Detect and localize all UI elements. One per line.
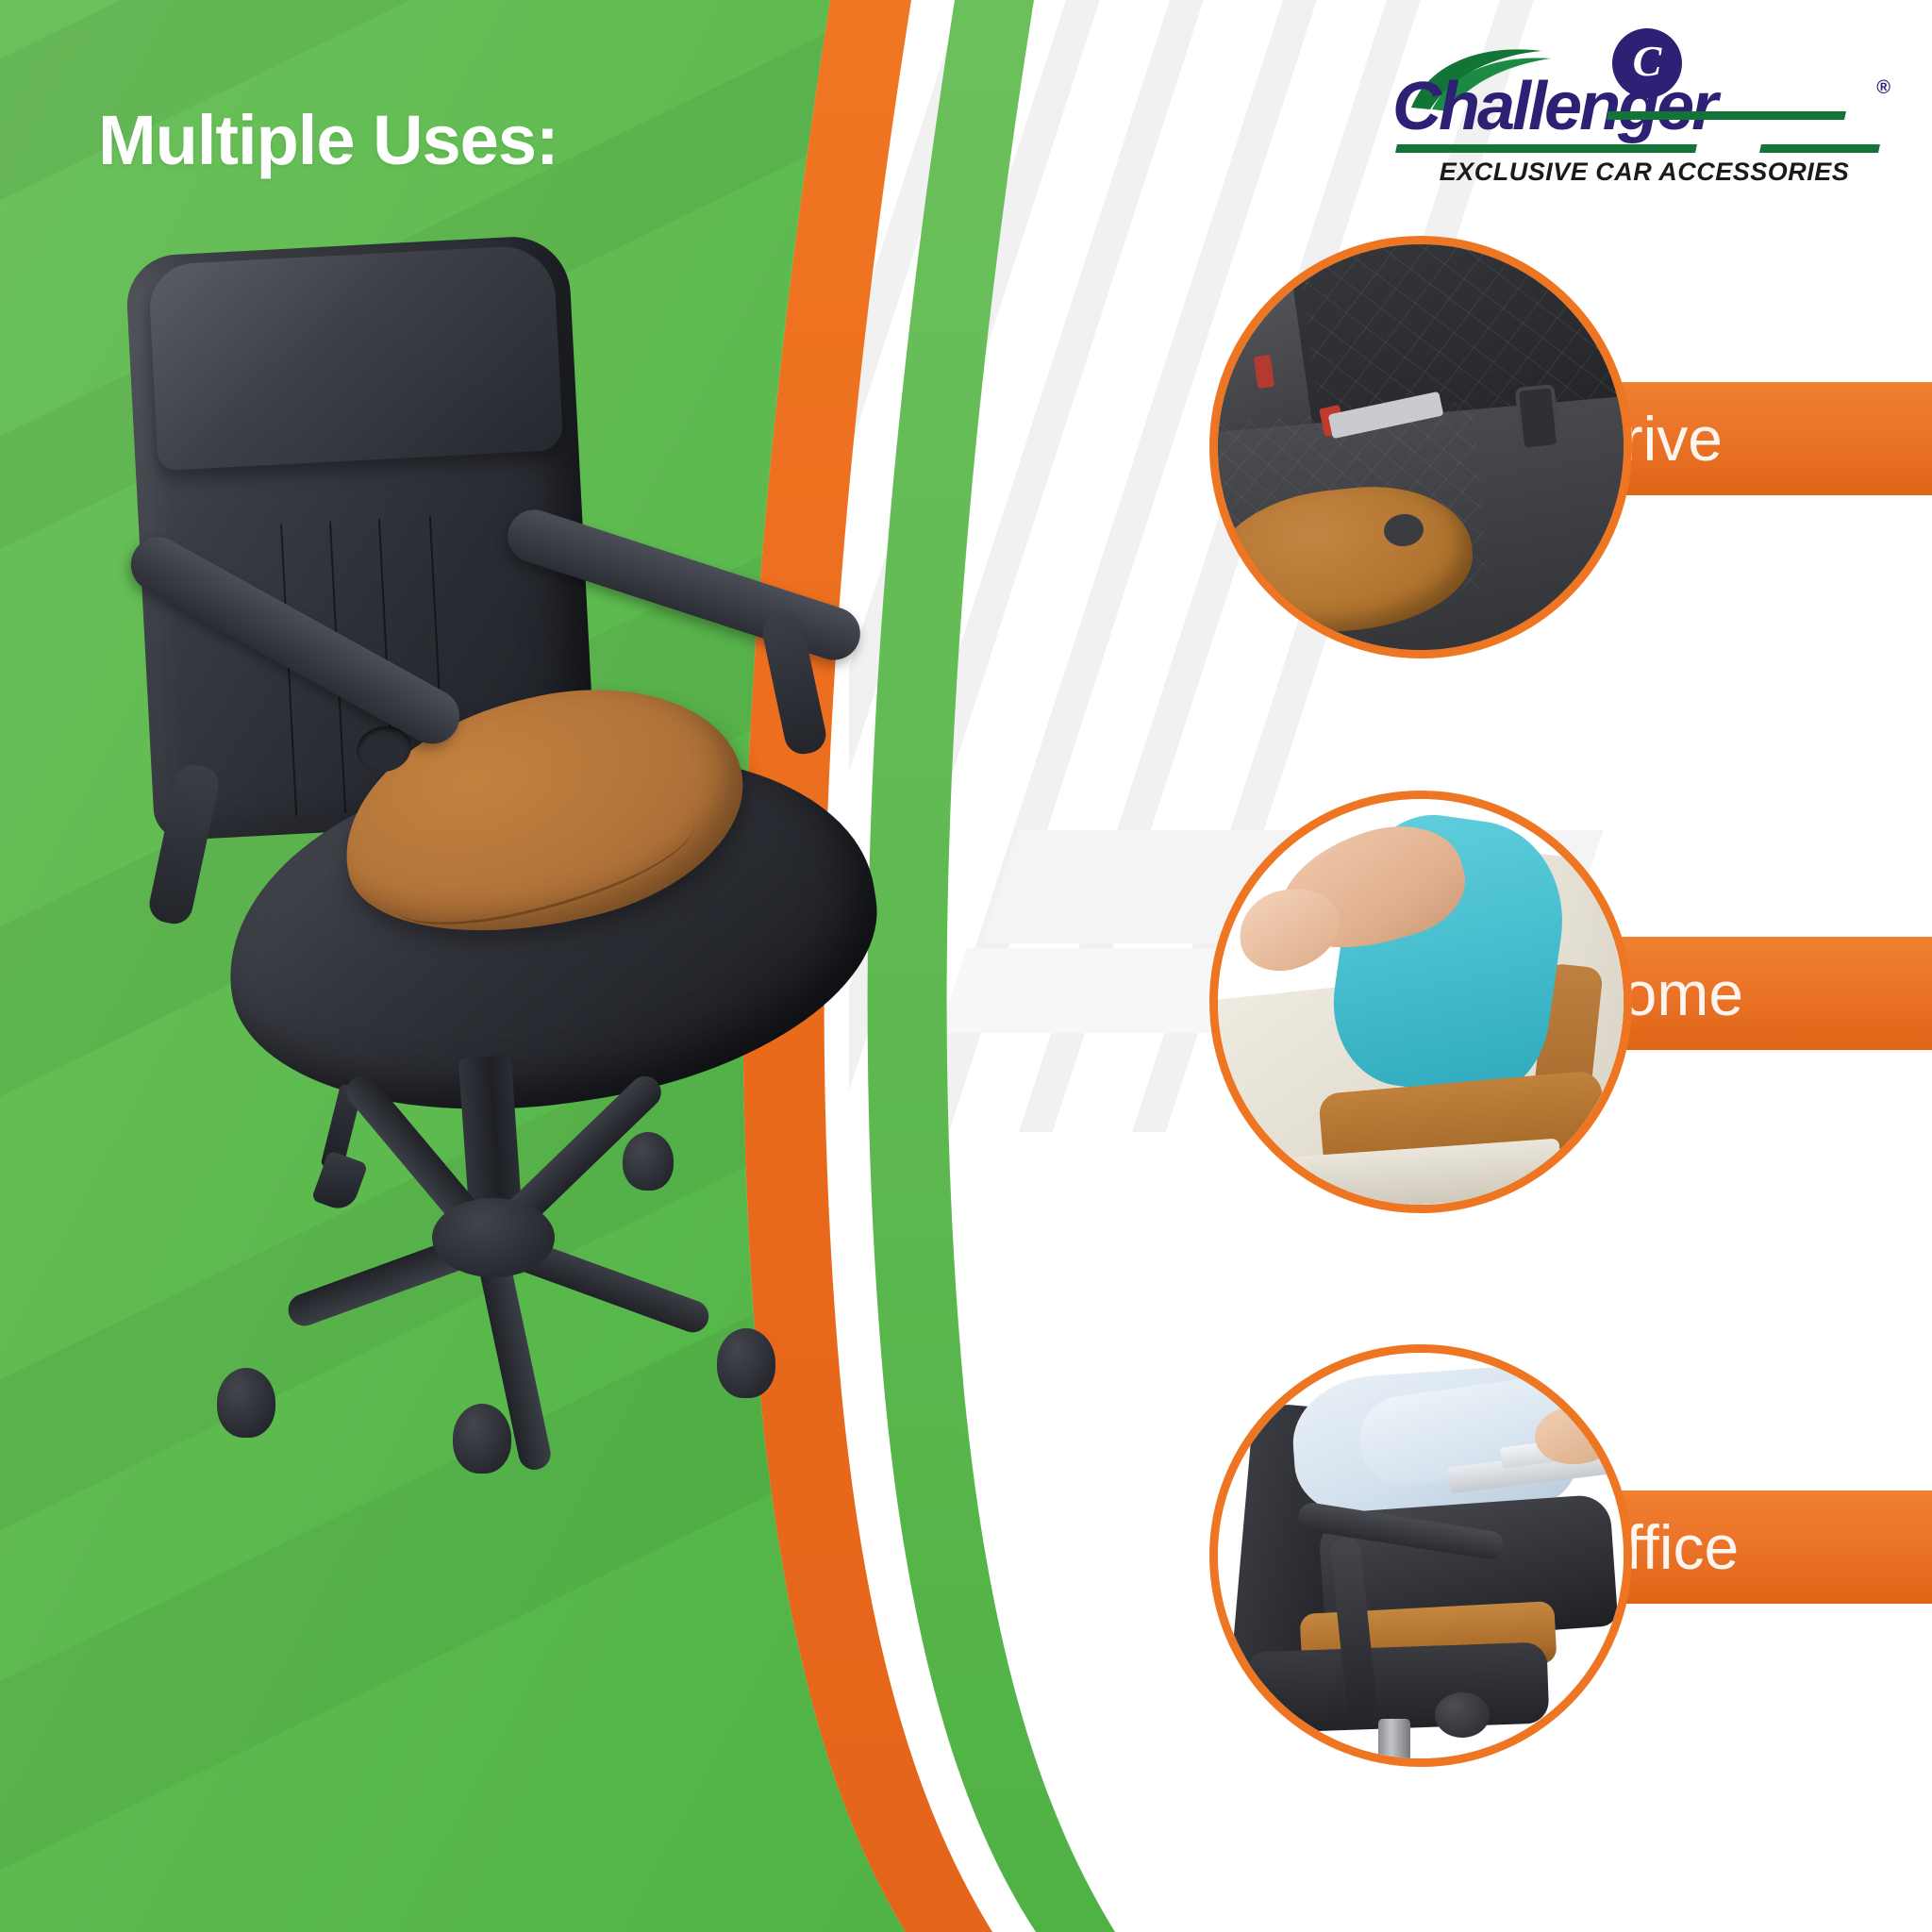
chair-headrest	[148, 244, 564, 471]
registered-mark-icon: ®	[1876, 77, 1890, 99]
logo-rule-top	[1607, 111, 1846, 120]
office-chair-gas-column	[1378, 1719, 1410, 1767]
hero-product-image	[57, 236, 906, 1481]
chair-caster	[453, 1404, 511, 1474]
seatbelt-anchor	[1515, 384, 1561, 452]
logo-rule-left	[1395, 144, 1697, 153]
use-case-photo-drive	[1209, 236, 1632, 658]
page-title: Multiple Uses:	[98, 106, 558, 175]
brand-tagline: EXCLUSIVE CAR ACCESSORIES	[1400, 158, 1889, 187]
brand-logo: C Challenger ® EXCLUSIVE CAR ACCESSORIES	[1392, 25, 1892, 187]
product-marketing-banner: Multiple Uses: C Challenger ® EXCLUSIVE …	[0, 0, 1932, 1932]
chair-base-hub	[432, 1198, 555, 1277]
chair-caster	[623, 1132, 674, 1191]
logo-rule-right	[1759, 144, 1880, 153]
use-case-photo-home	[1209, 791, 1632, 1213]
chair-caster	[217, 1368, 275, 1438]
chair-adjust-knob	[1435, 1692, 1490, 1738]
use-case-photo-office	[1209, 1344, 1632, 1767]
chair-lever-handle	[311, 1150, 368, 1214]
brand-name: Challenger	[1392, 70, 1883, 143]
chair-caster	[717, 1328, 775, 1398]
